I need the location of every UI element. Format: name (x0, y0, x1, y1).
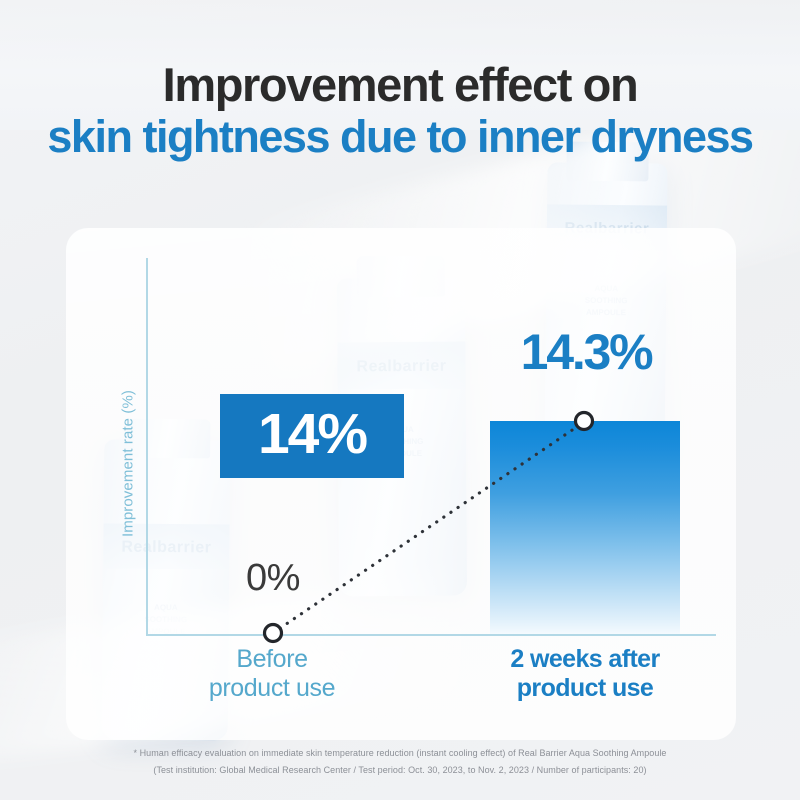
category-label-after: 2 weeks after product use (493, 645, 677, 703)
footnote-line-1: * Human efficacy evaluation on immediate… (0, 745, 800, 762)
category-label-before-line1: Before (236, 645, 307, 673)
footnote-line-2: (Test institution: Global Medical Resear… (0, 762, 800, 779)
data-point-marker-before (265, 625, 282, 642)
value-label-before: 0% (246, 559, 300, 597)
title-line-primary: Improvement effect on (0, 60, 800, 110)
footnote: * Human efficacy evaluation on immediate… (0, 745, 800, 778)
category-label-before-line2: product use (209, 674, 335, 702)
data-point-marker-after (576, 413, 593, 430)
category-label-after-line2: product use (517, 674, 653, 702)
infographic-canvas: Realbarrier AQUASOOTHINGAMPOULE Realbarr… (0, 0, 800, 800)
category-label-after-line1: 2 weeks after (510, 645, 659, 673)
page-title: Improvement effect on skin tightness due… (0, 60, 800, 165)
value-label-after: 14.3% (486, 327, 686, 377)
highlight-callout-badge: 14% (220, 394, 404, 478)
category-label-before: Before product use (182, 645, 362, 703)
title-line-secondary: skin tightness due to inner dryness (0, 110, 800, 165)
highlight-callout-text: 14% (258, 406, 366, 467)
